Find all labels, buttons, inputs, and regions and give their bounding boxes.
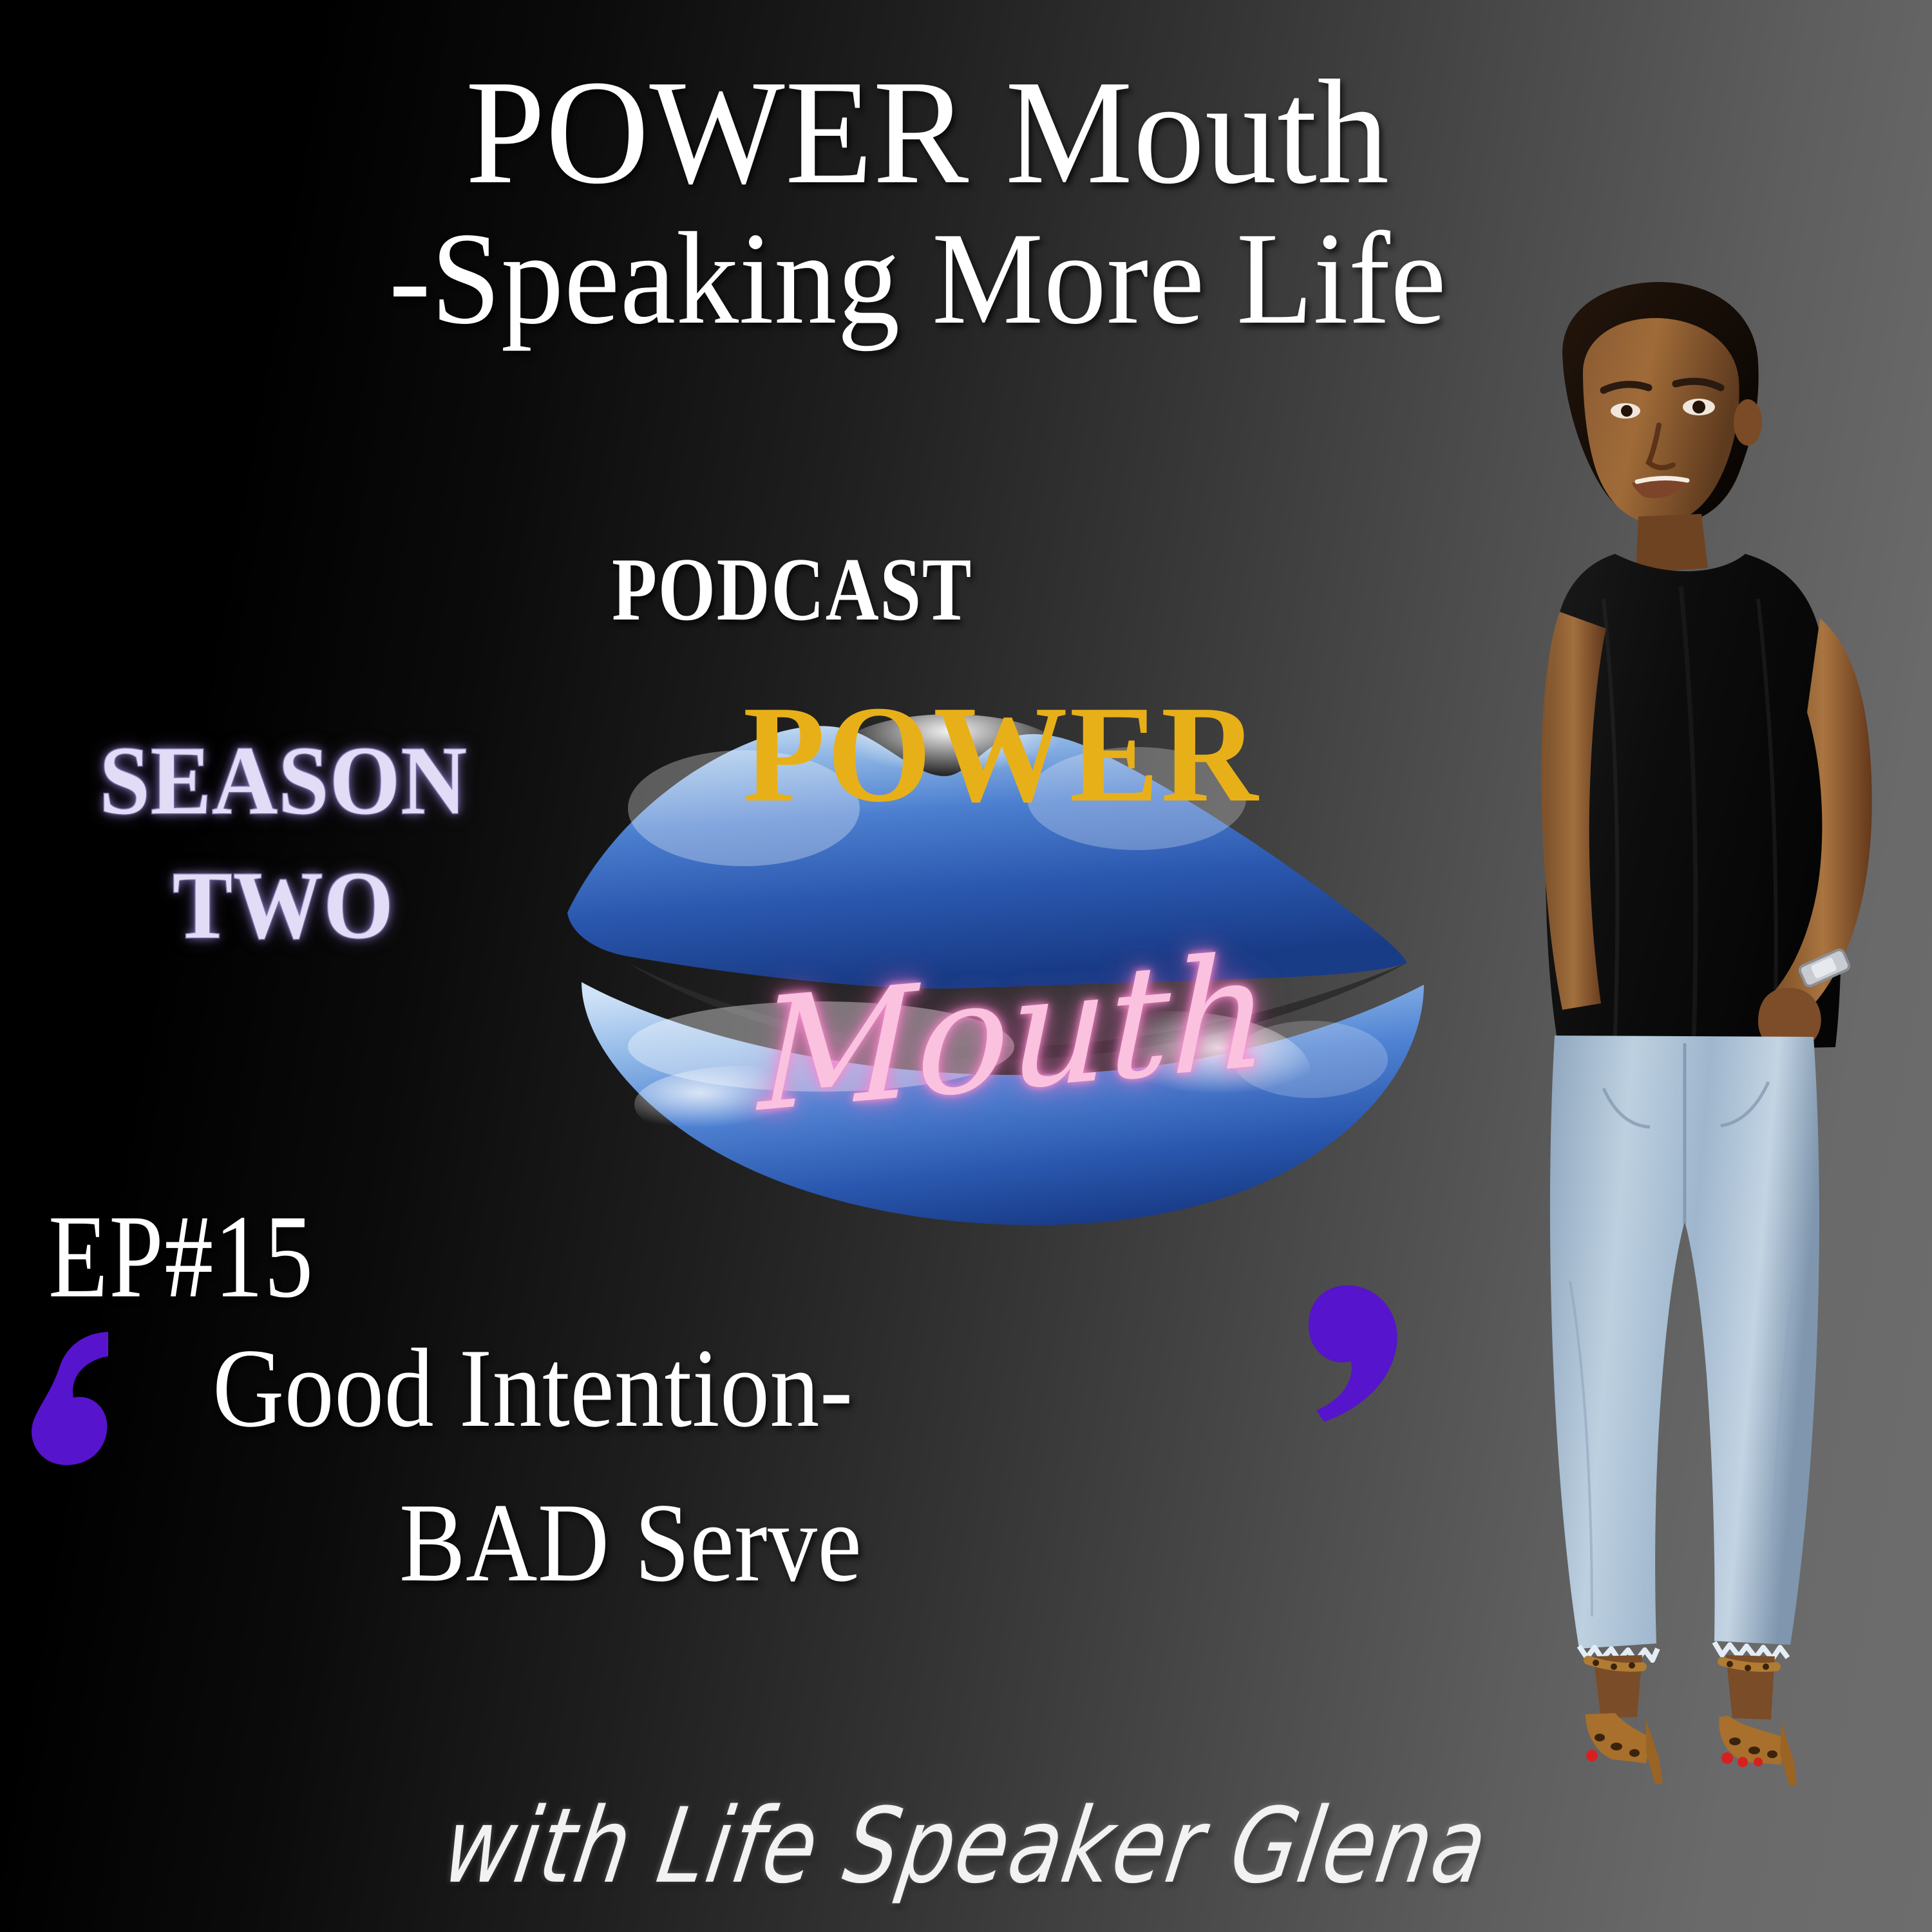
season-block: SEASON TWO bbox=[39, 718, 528, 967]
podcast-cover-art: POWER Mouth -Speaking More Life PODCAST … bbox=[0, 0, 1932, 1932]
host-portrait bbox=[1410, 277, 1932, 1797]
season-number-label: TWO bbox=[56, 844, 511, 967]
logo-power-word: POWER bbox=[639, 685, 1363, 823]
show-title-line-1: POWER Mouth bbox=[0, 58, 1855, 207]
host-figure-illustration bbox=[1410, 277, 1932, 1797]
opening-quote-icon bbox=[26, 1327, 122, 1468]
episode-title-line-2: BAD Serve bbox=[399, 1478, 862, 1607]
episode-title-line-1: Good Intention- bbox=[213, 1323, 853, 1453]
closing-quote-icon bbox=[1307, 1282, 1404, 1423]
season-label: SEASON bbox=[56, 718, 511, 844]
episode-number: EP#15 bbox=[48, 1188, 314, 1325]
podcast-label: PODCAST bbox=[0, 538, 1584, 641]
power-mouth-lips-logo: POWER Mouth bbox=[551, 660, 1446, 1233]
host-byline: with Life Speaker Glena bbox=[0, 1786, 1932, 1907]
